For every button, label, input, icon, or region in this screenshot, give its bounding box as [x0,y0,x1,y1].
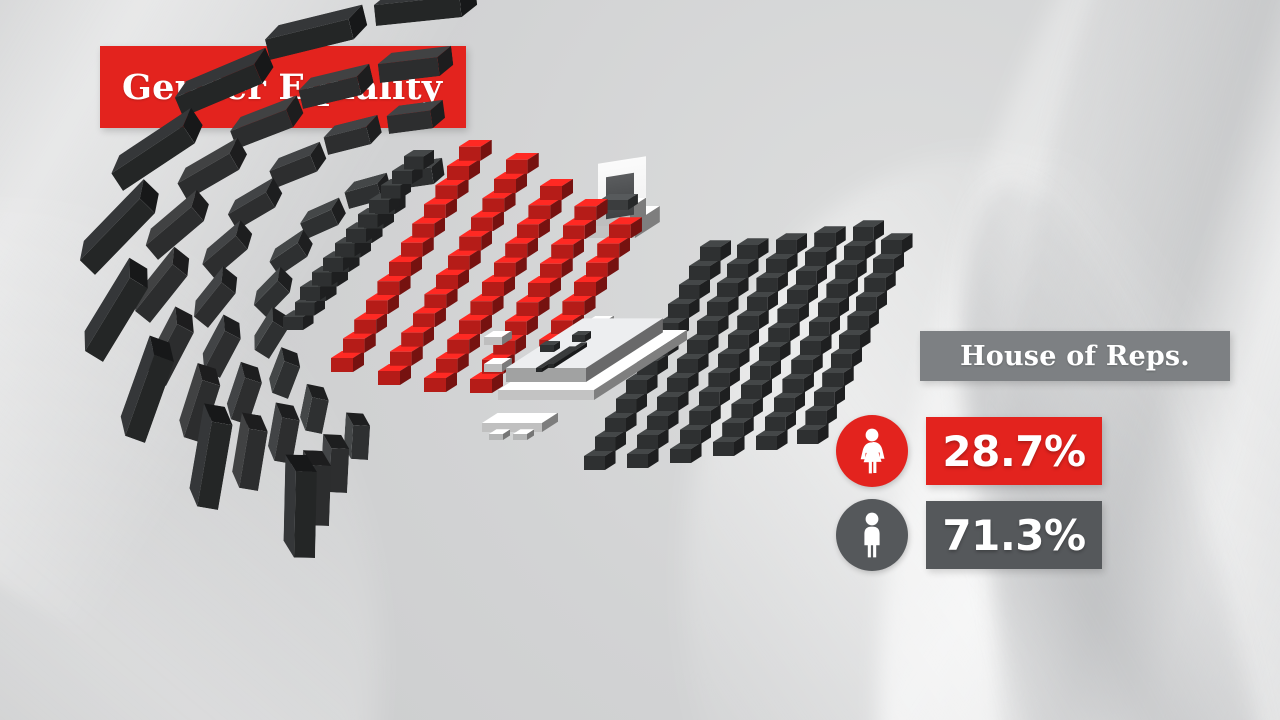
female-percentage-bar: 28.7% [926,417,1102,485]
stat-row-female: 28.7% [832,415,1232,487]
female-percentage-value: 28.7% [942,427,1085,476]
chamber-label-text: House of Reps. [960,341,1190,372]
male-figure-icon [836,499,908,571]
male-percentage-bar: 71.3% [926,501,1102,569]
infographic-stage: Gender Equality House of Reps. 28.7% [0,0,1280,720]
chamber-label-banner: House of Reps. [920,331,1230,381]
female-figure-icon [836,415,908,487]
info-panel: House of Reps. 28.7% 71.3% [832,331,1232,581]
male-percentage-value: 71.3% [942,511,1085,560]
stat-row-male: 71.3% [832,499,1232,571]
